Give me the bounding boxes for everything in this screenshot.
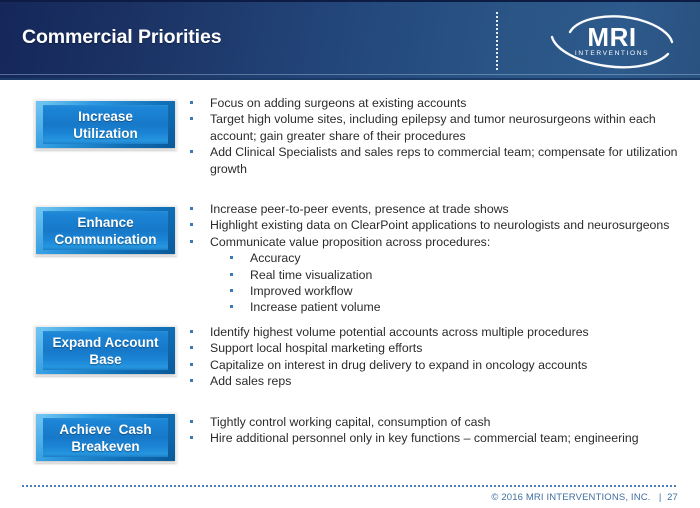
priority-bullets-2: Increase peer-to-peer events, presence a… xyxy=(188,201,683,316)
header-hairline xyxy=(0,74,700,75)
logo-svg: MRI INTERVENTIONS xyxy=(548,10,676,70)
bullet-item: Tightly control working capital, consump… xyxy=(188,414,683,430)
bullet-item: Capitalize on interest in drug delivery … xyxy=(188,357,683,373)
slide-header: Commercial Priorities MRI INTERVENTIONS xyxy=(0,0,700,80)
page-title: Commercial Priorities xyxy=(22,26,221,49)
bullet-item: Support local hospital marketing efforts xyxy=(188,340,683,356)
bullet-item: Add Clinical Specialists and sales reps … xyxy=(188,144,683,177)
footer-credit: © 2016 MRI INTERVENTIONS, INC. | 27 xyxy=(491,492,678,503)
header-dotted-divider xyxy=(496,12,498,70)
bullet-subitem: Improved workflow xyxy=(188,283,683,299)
bullet-subitem: Increase patient volume xyxy=(188,299,683,315)
priority-pill-increase-utilization[interactable]: Increase Utilization xyxy=(36,101,175,148)
priority-pill-label-1: Increase Utilization xyxy=(73,108,138,142)
footer-page-number: 27 xyxy=(667,492,678,503)
bullet-item: Target high volume sites, including epil… xyxy=(188,111,683,144)
priority-bullets-4: Tightly control working capital, consump… xyxy=(188,414,683,447)
bullet-item: Increase peer-to-peer events, presence a… xyxy=(188,201,683,217)
footer-spacer xyxy=(651,492,659,503)
bullet-subitem: Accuracy xyxy=(188,250,683,266)
priority-pill-label-4: Achieve Cash Breakeven xyxy=(59,421,151,455)
priority-pill-expand-account-base[interactable]: Expand Account Base xyxy=(36,327,175,374)
priority-pill-achieve-cash-breakeven[interactable]: Achieve Cash Breakeven xyxy=(36,414,175,461)
bullet-item: Add sales reps xyxy=(188,373,683,389)
bullet-subitem: Real time visualization xyxy=(188,267,683,283)
mri-interventions-logo: MRI INTERVENTIONS xyxy=(548,10,676,70)
footer-copyright: © 2016 MRI INTERVENTIONS, INC. xyxy=(491,492,650,503)
priority-pill-label-3: Expand Account Base xyxy=(52,334,158,368)
svg-text:MRI: MRI xyxy=(587,22,636,52)
header-top-edge xyxy=(0,0,700,2)
bullet-item: Communicate value proposition across pro… xyxy=(188,234,683,250)
priority-bullets-3: Identify highest volume potential accoun… xyxy=(188,324,683,390)
header-bottom-edge xyxy=(0,78,700,80)
bullet-item: Identify highest volume potential accoun… xyxy=(188,324,683,340)
priority-bullets-1: Focus on adding surgeons at existing acc… xyxy=(188,95,683,177)
logo-wordmark: MRI INTERVENTIONS xyxy=(575,22,649,57)
bullet-item: Focus on adding surgeons at existing acc… xyxy=(188,95,683,111)
priority-pill-enhance-communication[interactable]: Enhance Communication xyxy=(36,207,175,254)
bullet-item: Highlight existing data on ClearPoint ap… xyxy=(188,217,683,233)
svg-text:INTERVENTIONS: INTERVENTIONS xyxy=(575,50,649,57)
slide: Commercial Priorities MRI INTERVENTIONS … xyxy=(0,0,700,508)
footer-dotted-divider xyxy=(22,485,678,487)
bullet-item: Hire additional personnel only in key fu… xyxy=(188,430,683,446)
priority-pill-label-2: Enhance Communication xyxy=(54,214,156,248)
